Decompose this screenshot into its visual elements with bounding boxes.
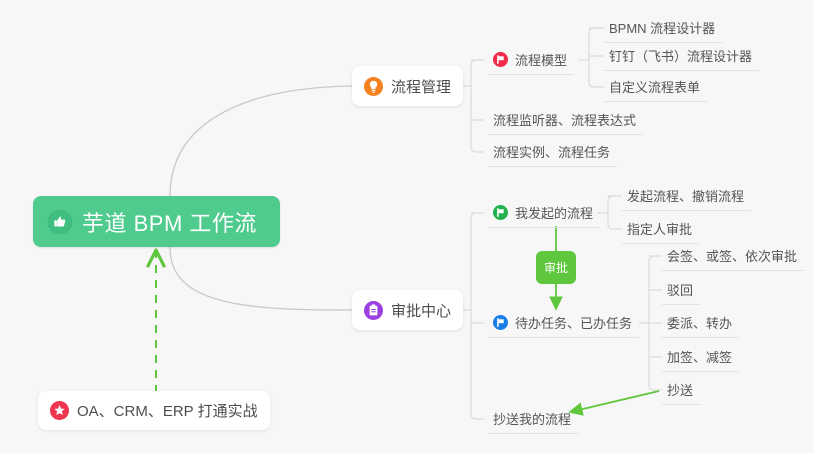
annotation-badge-approval: 审批 (536, 251, 576, 284)
node-todo-done-tasks-label: 待办任务、已办任务 (515, 313, 632, 332)
node-dingtalk-designer[interactable]: 钉钉（飞书）流程设计器 (604, 41, 759, 71)
floating-node-integration[interactable]: OA、CRM、ERP 打通实战 (38, 391, 270, 430)
node-countersign-label: 会签、或签、依次审批 (667, 246, 797, 265)
node-process-instance[interactable]: 流程实例、流程任务 (488, 137, 617, 167)
node-assignee-approval-label: 指定人审批 (627, 219, 692, 238)
thumbs-up-icon (47, 209, 73, 235)
branch-node-approval-center[interactable]: 审批中心 (352, 290, 463, 330)
node-process-model[interactable]: 流程模型 (488, 45, 574, 75)
node-custom-form[interactable]: 自定义流程表单 (604, 72, 707, 102)
wire-root-to-approval-center (170, 247, 352, 310)
branch-node-process-management[interactable]: 流程管理 (352, 66, 463, 106)
root-node-label: 芋道 BPM 工作流 (82, 206, 257, 238)
node-process-instance-label: 流程实例、流程任务 (493, 142, 610, 161)
branch-node-process-management-label: 流程管理 (391, 76, 451, 97)
node-my-processes-label: 我发起的流程 (515, 203, 593, 222)
node-reject[interactable]: 驳回 (662, 275, 700, 305)
node-custom-form-label: 自定义流程表单 (609, 77, 700, 96)
wire-green-cc-arrow (570, 391, 659, 412)
node-assignee-approval[interactable]: 指定人审批 (622, 214, 699, 244)
root-node[interactable]: 芋道 BPM 工作流 (33, 196, 280, 247)
node-cc-to-me[interactable]: 抄送我的流程 (488, 404, 578, 434)
wire-process-management-spine (461, 60, 484, 152)
node-cc-to-me-label: 抄送我的流程 (493, 409, 571, 428)
floating-node-integration-label: OA、CRM、ERP 打通实战 (77, 400, 258, 421)
star-icon (50, 401, 69, 420)
node-add-remove-sign[interactable]: 加签、减签 (662, 342, 739, 372)
lightbulb-icon (364, 77, 383, 96)
node-delegate-transfer-label: 委派、转办 (667, 313, 732, 332)
node-reject-label: 驳回 (667, 280, 693, 299)
node-bpmn-designer[interactable]: BPMN 流程设计器 (604, 13, 722, 43)
node-countersign[interactable]: 会签、或签、依次审批 (662, 241, 804, 271)
node-dingtalk-designer-label: 钉钉（飞书）流程设计器 (609, 46, 752, 65)
node-process-listener[interactable]: 流程监听器、流程表达式 (488, 105, 643, 135)
node-todo-done-tasks[interactable]: 待办任务、已办任务 (488, 308, 639, 338)
annotation-badge-approval-label: 审批 (544, 259, 568, 276)
flag-icon (493, 315, 508, 330)
mindmap-canvas: 芋道 BPM 工作流 流程管理 流程模型 BPMN 流程设计器 钉钉（飞书）流 (0, 0, 814, 453)
node-carbon-copy[interactable]: 抄送 (662, 375, 700, 405)
wire-my-processes-spine (597, 196, 622, 229)
wire-tasks-spine (639, 256, 662, 390)
wire-process-model-spine (579, 28, 604, 87)
clipboard-icon (364, 301, 383, 320)
node-bpmn-designer-label: BPMN 流程设计器 (609, 18, 715, 37)
node-start-cancel-process-label: 发起流程、撤销流程 (627, 186, 744, 205)
node-process-listener-label: 流程监听器、流程表达式 (493, 110, 636, 129)
node-carbon-copy-label: 抄送 (667, 380, 693, 399)
branch-node-approval-center-label: 审批中心 (391, 300, 451, 321)
flag-icon (493, 205, 508, 220)
node-delegate-transfer[interactable]: 委派、转办 (662, 308, 739, 338)
node-start-cancel-process[interactable]: 发起流程、撤销流程 (622, 181, 751, 211)
wire-approval-center-spine (461, 213, 484, 419)
flag-icon (493, 52, 508, 67)
node-add-remove-sign-label: 加签、减签 (667, 347, 732, 366)
node-my-processes[interactable]: 我发起的流程 (488, 198, 600, 228)
wire-root-to-process-management (170, 86, 352, 196)
node-process-model-label: 流程模型 (515, 50, 567, 69)
